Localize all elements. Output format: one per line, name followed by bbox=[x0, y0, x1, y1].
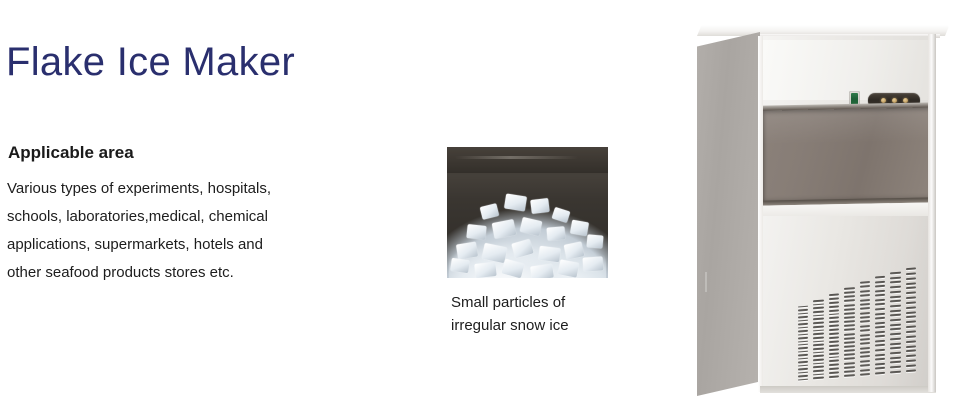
grille-slot bbox=[813, 307, 823, 309]
grille-slot bbox=[829, 313, 839, 316]
grille-slot bbox=[906, 267, 916, 270]
grille-slot bbox=[906, 277, 916, 280]
ice-flake bbox=[504, 193, 527, 211]
grille-slot bbox=[906, 311, 916, 314]
grille-slot bbox=[829, 364, 839, 367]
grille-slot bbox=[798, 306, 808, 308]
description-line: other seafood products stores etc. bbox=[7, 259, 347, 287]
grille-slot bbox=[875, 331, 885, 334]
grille-slot bbox=[829, 293, 839, 296]
grille-slot bbox=[875, 312, 885, 315]
machine-front-right-edge bbox=[928, 34, 936, 392]
grille-slot bbox=[860, 316, 870, 319]
machine-control-bezel bbox=[763, 40, 929, 100]
grille-slot bbox=[798, 375, 808, 377]
grille-slot bbox=[890, 300, 900, 303]
grille-slot bbox=[890, 337, 900, 340]
grille-slot bbox=[829, 325, 839, 328]
grille-slot bbox=[798, 340, 808, 342]
grille-slot bbox=[906, 330, 916, 333]
grille-slot bbox=[844, 312, 854, 315]
grille-slot bbox=[813, 362, 823, 364]
ice-flake bbox=[450, 258, 470, 273]
grille-slot bbox=[844, 341, 854, 344]
grille-slot bbox=[860, 281, 870, 284]
grille-slot bbox=[798, 347, 808, 349]
grille-slot bbox=[860, 355, 870, 358]
ventilation-grille bbox=[798, 267, 916, 380]
grille-slot bbox=[906, 316, 916, 319]
grille-slot bbox=[860, 360, 870, 363]
grille-slot bbox=[844, 287, 854, 290]
grille-slot bbox=[829, 297, 839, 300]
caption-line: irregular snow ice bbox=[451, 314, 631, 337]
grille-slot bbox=[875, 276, 885, 279]
grille-slot bbox=[798, 320, 808, 322]
grille-slot bbox=[813, 373, 823, 375]
grille-slot bbox=[829, 329, 839, 332]
grille-slot bbox=[906, 345, 916, 348]
ice-storage-door[interactable] bbox=[763, 107, 932, 202]
grille-slot bbox=[890, 366, 900, 369]
ice-flake bbox=[583, 256, 604, 271]
ice-flake bbox=[546, 226, 565, 241]
grille-slot bbox=[860, 294, 870, 297]
grille-slot bbox=[829, 352, 839, 355]
grille-slot bbox=[798, 337, 808, 339]
grille-slot bbox=[860, 364, 870, 367]
grille-slot bbox=[813, 351, 823, 353]
grille-slot bbox=[890, 352, 900, 355]
description-line: applications, supermarkets, hotels and bbox=[7, 231, 347, 259]
grille-slot bbox=[813, 333, 823, 335]
grille-slot bbox=[860, 342, 870, 345]
ice-flake bbox=[570, 220, 589, 237]
grille-slot bbox=[906, 292, 916, 295]
grille-slot bbox=[813, 366, 823, 368]
grille-slot bbox=[844, 308, 854, 311]
grille-slot bbox=[875, 326, 885, 329]
applicable-area-description: Various types of experiments, hospitals,… bbox=[7, 175, 347, 287]
grille-slot bbox=[829, 317, 839, 320]
grille-slot bbox=[813, 344, 823, 346]
grille-slot bbox=[798, 333, 808, 335]
grille-slot bbox=[906, 340, 916, 343]
grille-column bbox=[829, 293, 839, 378]
grille-slot bbox=[890, 276, 900, 279]
grille-slot bbox=[906, 326, 916, 329]
grille-slot bbox=[813, 303, 823, 305]
grille-slot bbox=[813, 318, 823, 320]
description-line: Various types of experiments, hospitals, bbox=[7, 175, 347, 203]
grille-slot bbox=[844, 304, 854, 307]
grille-slot bbox=[844, 362, 854, 365]
grille-slot bbox=[860, 347, 870, 350]
grille-slot bbox=[890, 333, 900, 336]
indicator-led bbox=[881, 98, 886, 103]
grille-slot bbox=[798, 371, 808, 373]
grille-slot bbox=[890, 295, 900, 298]
grille-slot bbox=[875, 335, 885, 338]
ice-flake bbox=[530, 198, 550, 214]
grille-slot bbox=[844, 353, 854, 356]
grille-slot bbox=[829, 368, 839, 371]
grille-slot bbox=[860, 325, 870, 328]
ice-flake bbox=[474, 262, 496, 278]
grille-slot bbox=[875, 280, 885, 283]
grille-slot bbox=[813, 340, 823, 342]
grille-slot bbox=[813, 359, 823, 361]
grille-slot bbox=[906, 369, 916, 372]
ice-photo bbox=[447, 147, 608, 278]
grille-slot bbox=[813, 355, 823, 357]
grille-slot bbox=[860, 329, 870, 332]
grille-slot bbox=[813, 329, 823, 331]
grille-slot bbox=[813, 314, 823, 316]
grille-slot bbox=[798, 323, 808, 325]
grille-slot bbox=[844, 345, 854, 348]
grille-slot bbox=[844, 366, 854, 369]
grille-column bbox=[890, 272, 900, 374]
ice-flake bbox=[530, 264, 554, 278]
grille-slot bbox=[844, 291, 854, 294]
grille-slot bbox=[890, 314, 900, 317]
grille-slot bbox=[890, 305, 900, 308]
grille-slot bbox=[813, 322, 823, 324]
grille-slot bbox=[829, 301, 839, 304]
grille-slot bbox=[906, 282, 916, 285]
grille-slot bbox=[813, 336, 823, 338]
grille-column bbox=[798, 306, 808, 381]
grille-slot bbox=[890, 323, 900, 326]
grille-slot bbox=[890, 319, 900, 322]
grille-slot bbox=[906, 355, 916, 358]
grille-slot bbox=[844, 320, 854, 323]
grille-slot bbox=[875, 308, 885, 311]
grille-slot bbox=[906, 359, 916, 362]
grille-slot bbox=[798, 364, 808, 366]
grille-slot bbox=[875, 321, 885, 324]
grille-slot bbox=[829, 336, 839, 339]
grille-slot bbox=[798, 361, 808, 363]
grille-column bbox=[875, 276, 885, 375]
grille-slot bbox=[813, 325, 823, 327]
grille-slot bbox=[798, 309, 808, 311]
ice-maker-product-image bbox=[690, 14, 950, 392]
grille-slot bbox=[906, 350, 916, 353]
grille-slot bbox=[875, 299, 885, 302]
grille-slot bbox=[890, 281, 900, 284]
grille-slot bbox=[798, 351, 808, 353]
grille-slot bbox=[798, 313, 808, 315]
ice-photo-caption: Small particles of irregular snow ice bbox=[451, 291, 631, 337]
grille-slot bbox=[829, 305, 839, 308]
grille-slot bbox=[844, 300, 854, 303]
grille-slot bbox=[829, 340, 839, 343]
grille-slot bbox=[875, 290, 885, 293]
grille-slot bbox=[829, 348, 839, 351]
page-title: Flake Ice Maker bbox=[6, 40, 295, 85]
grille-slot bbox=[860, 320, 870, 323]
grille-slot bbox=[829, 360, 839, 363]
grille-slot bbox=[906, 321, 916, 324]
grille-slot bbox=[906, 306, 916, 309]
grille-slot bbox=[906, 272, 916, 275]
grille-slot bbox=[813, 370, 823, 372]
grille-slot bbox=[906, 297, 916, 300]
grille-slot bbox=[875, 349, 885, 352]
grille-slot bbox=[890, 347, 900, 350]
grille-slot bbox=[890, 286, 900, 289]
machine-side-panel bbox=[697, 32, 760, 396]
grille-slot bbox=[829, 309, 839, 312]
grille-slot bbox=[860, 369, 870, 372]
grille-slot bbox=[875, 285, 885, 288]
grille-slot bbox=[875, 340, 885, 343]
grille-slot bbox=[844, 295, 854, 298]
grille-slot bbox=[890, 342, 900, 345]
grille-slot bbox=[906, 335, 916, 338]
grille-slot bbox=[890, 356, 900, 359]
grille-slot bbox=[844, 324, 854, 327]
grille-slot bbox=[890, 328, 900, 331]
grille-column bbox=[860, 281, 870, 376]
bowl-rim-highlight bbox=[455, 156, 578, 159]
grille-column bbox=[844, 287, 854, 377]
grille-slot bbox=[875, 363, 885, 366]
grille-slot bbox=[875, 358, 885, 361]
grille-slot bbox=[890, 290, 900, 293]
section-heading-applicable-area: Applicable area bbox=[8, 143, 134, 163]
product-banner: Flake Ice Maker Applicable area Various … bbox=[0, 0, 960, 404]
grille-column bbox=[813, 300, 823, 380]
ice-flake bbox=[538, 246, 561, 262]
grille-slot bbox=[860, 285, 870, 288]
grille-column bbox=[906, 267, 916, 372]
caption-line: Small particles of bbox=[451, 291, 631, 314]
machine-side-seam bbox=[705, 272, 707, 292]
grille-slot bbox=[798, 326, 808, 328]
grille-slot bbox=[813, 311, 823, 313]
grille-slot bbox=[829, 356, 839, 359]
grille-slot bbox=[860, 290, 870, 293]
grille-slot bbox=[890, 361, 900, 364]
grille-slot bbox=[798, 358, 808, 360]
grille-slot bbox=[813, 300, 823, 302]
grille-slot bbox=[906, 364, 916, 367]
grille-slot bbox=[829, 344, 839, 347]
grille-slot bbox=[844, 358, 854, 361]
grille-slot bbox=[860, 307, 870, 310]
grille-slot bbox=[875, 367, 885, 370]
grille-slot bbox=[844, 329, 854, 332]
grille-slot bbox=[829, 321, 839, 324]
grille-slot bbox=[829, 332, 839, 335]
grille-slot bbox=[844, 316, 854, 319]
grille-slot bbox=[844, 337, 854, 340]
description-line: schools, laboratories,medical, chemical bbox=[7, 203, 347, 231]
grille-slot bbox=[875, 303, 885, 306]
grille-slot bbox=[875, 344, 885, 347]
ice-flake bbox=[586, 234, 603, 248]
grille-slot bbox=[875, 353, 885, 356]
grille-slot bbox=[906, 301, 916, 304]
grille-slot bbox=[844, 370, 854, 373]
ice-flake bbox=[466, 224, 486, 240]
grille-slot bbox=[860, 312, 870, 315]
grille-slot bbox=[906, 287, 916, 290]
grille-slot bbox=[890, 309, 900, 312]
grille-slot bbox=[829, 372, 839, 375]
grille-slot bbox=[860, 338, 870, 341]
grille-slot bbox=[844, 349, 854, 352]
ice-flake bbox=[456, 242, 478, 260]
machine-base-shadow bbox=[760, 386, 936, 393]
grille-slot bbox=[860, 351, 870, 354]
grille-slot bbox=[798, 368, 808, 370]
grille-slot bbox=[798, 316, 808, 318]
grille-slot bbox=[860, 334, 870, 337]
grille-slot bbox=[813, 347, 823, 349]
grille-slot bbox=[798, 344, 808, 346]
grille-slot bbox=[890, 272, 900, 275]
grille-slot bbox=[798, 354, 808, 356]
grille-slot bbox=[860, 303, 870, 306]
door-gloss-highlight bbox=[763, 107, 932, 144]
grille-slot bbox=[860, 299, 870, 302]
bowl-rim bbox=[447, 147, 608, 173]
grille-slot bbox=[875, 294, 885, 297]
grille-slot bbox=[798, 330, 808, 332]
grille-slot bbox=[844, 333, 854, 336]
grille-slot bbox=[875, 317, 885, 320]
